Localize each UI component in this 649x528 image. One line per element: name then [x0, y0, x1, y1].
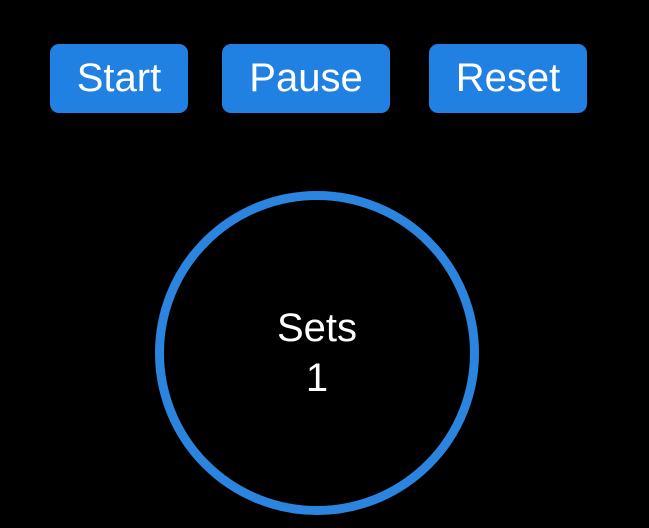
sets-progress-ring[interactable]: Sets 1	[155, 191, 479, 515]
sets-ring-icon	[155, 191, 479, 515]
reset-button[interactable]: Reset	[429, 44, 587, 113]
control-button-bar: Start Pause Reset	[0, 44, 649, 113]
timer-app-root: Start Pause Reset Sets 1	[0, 0, 649, 528]
pause-button[interactable]: Pause	[222, 44, 390, 113]
start-button[interactable]: Start	[50, 44, 188, 113]
